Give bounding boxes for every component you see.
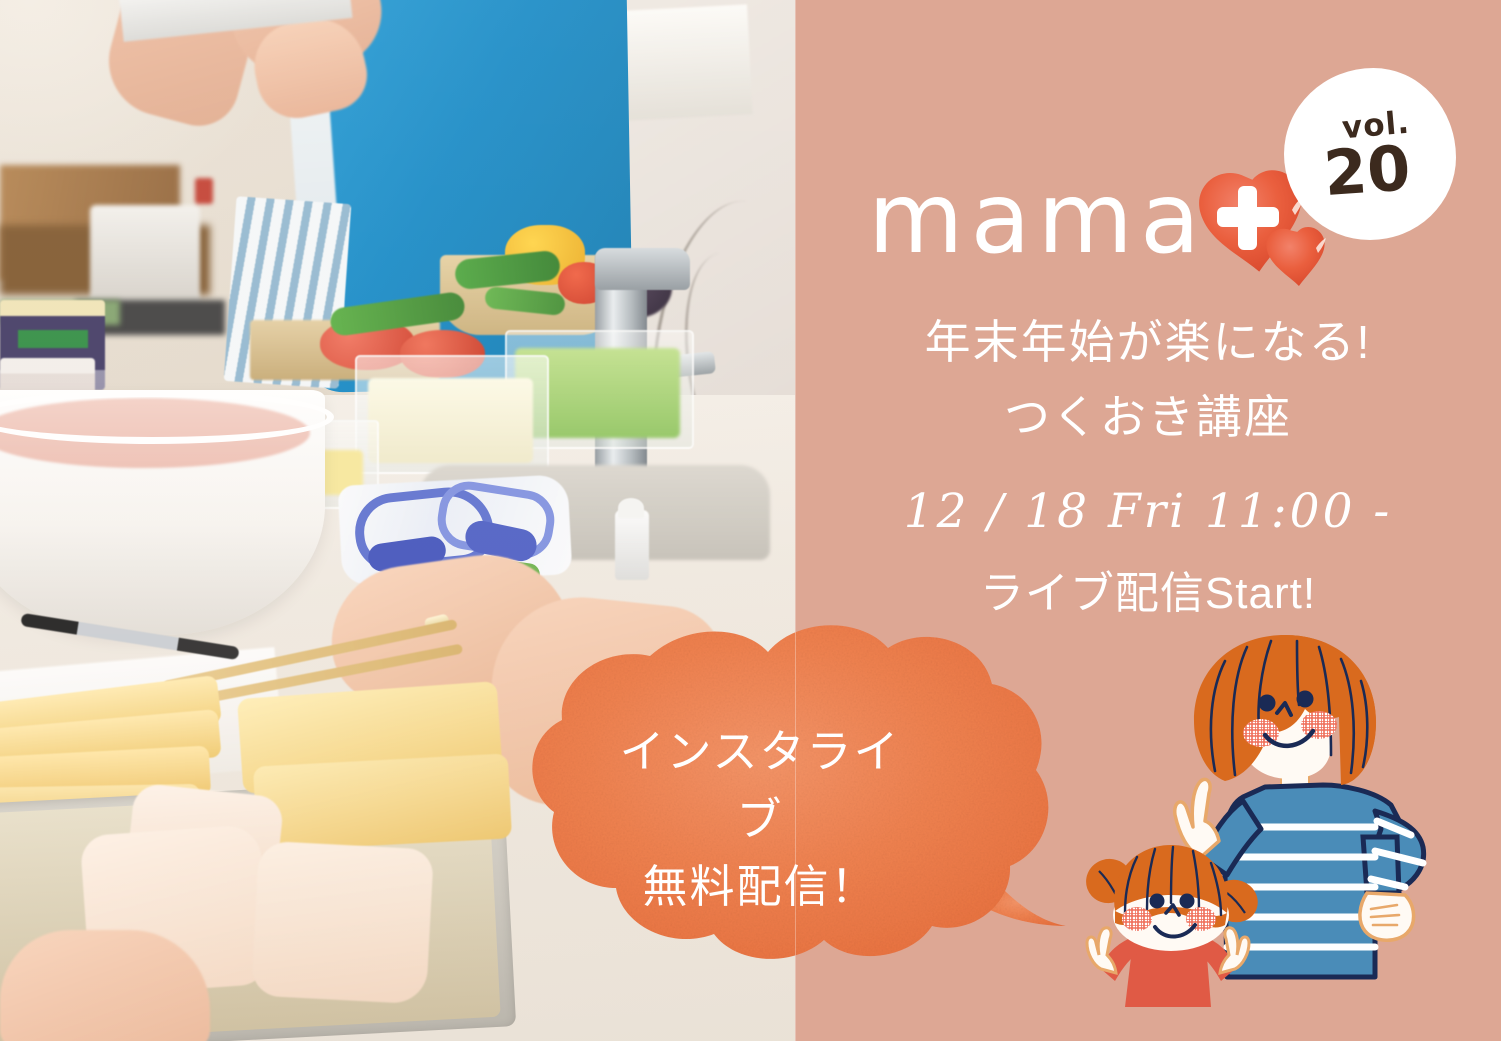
photo-faucet-spout	[595, 248, 690, 290]
brand-wordmark: mama	[868, 170, 1207, 268]
event-date-time: 12 / 18 Fri 11:00 -	[795, 481, 1501, 542]
photo-tofu-sheet-2	[251, 841, 434, 1005]
photo-can-label	[18, 330, 88, 348]
headline-line-1: 年末年始が楽になる!	[795, 312, 1501, 373]
bubble-line-2: 無料配信！	[610, 853, 910, 921]
headline-line-2: つくおき講座	[795, 387, 1501, 448]
photo-soap-bottle	[615, 510, 649, 580]
poster: vol. 20 mama 年末年始が楽になる! つくおき講座 12 / 18 F…	[0, 0, 1501, 1041]
instagram-live-bubble: インスタライブ 無料配信！	[500, 596, 1080, 1016]
photo-chopped-onion	[368, 378, 533, 463]
headline-block: 年末年始が楽になる! つくおき講座 12 / 18 Fri 11:00 - ライ…	[795, 312, 1501, 622]
vol-badge: vol. 20	[1284, 68, 1456, 240]
photo-hand-bottom	[0, 930, 210, 1041]
mother-and-child-illustration	[1075, 625, 1485, 1041]
vol-badge-number: 20	[1322, 139, 1412, 204]
bubble-line-1: インスタライブ	[610, 718, 910, 853]
plus-icon	[1213, 184, 1283, 254]
brand-logo: mama	[868, 170, 1283, 268]
photo-soap-cap	[618, 498, 644, 518]
bubble-text: インスタライブ 無料配信！	[610, 718, 910, 921]
collage-seam	[795, 0, 796, 1041]
photo-red-object	[195, 178, 213, 204]
photo-fried-tofu-6	[253, 753, 512, 851]
